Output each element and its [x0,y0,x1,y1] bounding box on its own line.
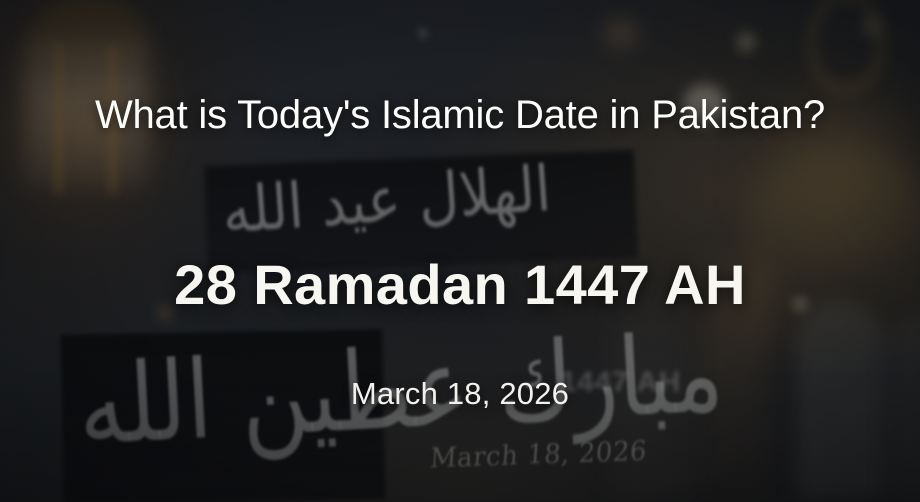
banner-content: What is Today's Islamic Date in Pakistan… [0,0,920,502]
islamic-date-banner: الهلال عيد الله مبارك عطين الله 1447 AH … [0,0,920,502]
page-title: What is Today's Islamic Date in Pakistan… [0,93,920,138]
hijri-date-value: 28 Ramadan 1447 AH [0,252,920,317]
gregorian-date-value: March 18, 2026 [0,376,920,412]
